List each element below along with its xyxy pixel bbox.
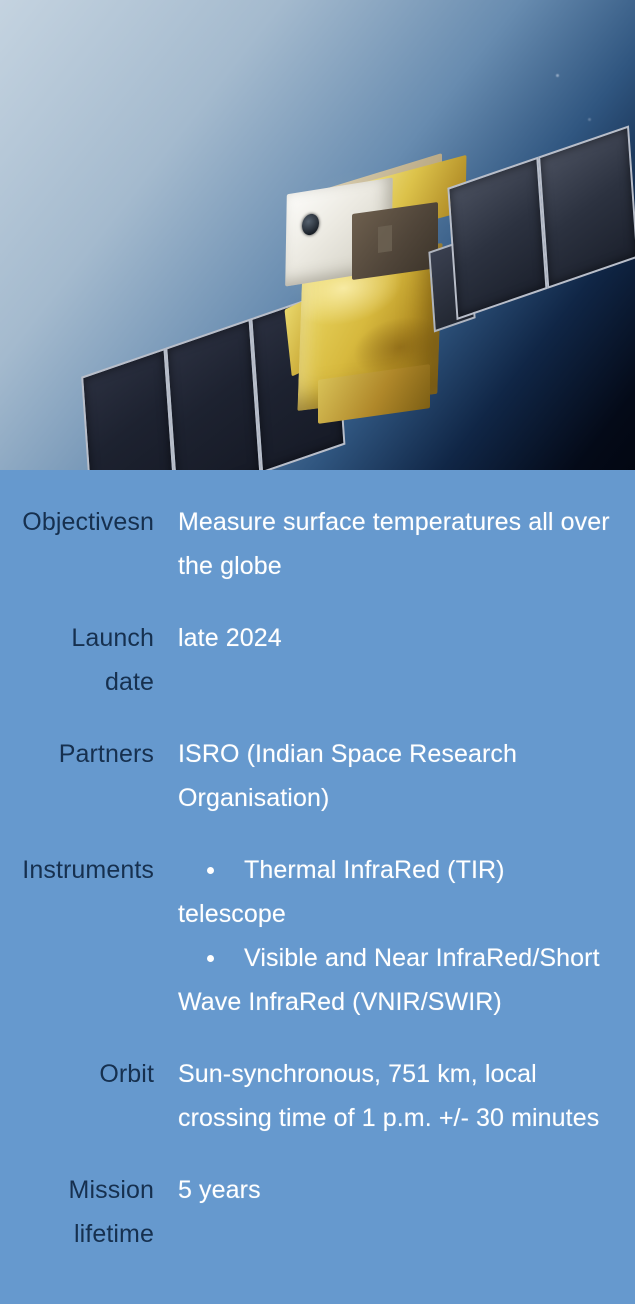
- infobox-value: late 2024: [178, 616, 613, 660]
- instrument-dark-face: [352, 202, 438, 280]
- infobox-label: Mission lifetime: [22, 1168, 178, 1256]
- infobox-value: ISRO (Indian Space Research Organisation…: [178, 732, 613, 820]
- infobox-row-orbit: Orbit Sun-synchronous, 751 km, local cro…: [22, 1052, 613, 1140]
- list-item-label: Visible and Near InfraRed/Short Wave Inf…: [178, 944, 600, 1016]
- instrument-list: Thermal InfraRed (TIR) telescope Visible…: [178, 848, 613, 1024]
- list-item: Thermal InfraRed (TIR) telescope: [178, 848, 613, 936]
- infobox-row-partners: Partners ISRO (Indian Space Research Org…: [22, 732, 613, 820]
- infobox-value-list: Thermal InfraRed (TIR) telescope Visible…: [178, 848, 613, 1024]
- bullet-icon: [207, 867, 214, 874]
- infobox-row-launch-date: Launch date late 2024: [22, 616, 613, 704]
- infobox-label: Instruments: [22, 848, 178, 892]
- infobox-label: Objectivesn: [22, 500, 178, 544]
- infobox-row-mission-lifetime: Mission lifetime 5 years: [22, 1168, 613, 1256]
- satellite-spacecraft: [0, 0, 635, 470]
- mission-infobox: Objectivesn Measure surface temperatures…: [0, 470, 635, 1304]
- solar-panel-segment: [166, 319, 261, 470]
- solar-panel-segment: [81, 348, 176, 470]
- infobox-row-objectives: Objectivesn Measure surface temperatures…: [22, 500, 613, 588]
- infobox-label: Launch date: [22, 616, 178, 704]
- bullet-icon: [207, 955, 214, 962]
- instrument-detail: [378, 225, 392, 253]
- solar-panel-segment: [538, 125, 635, 288]
- infobox-value: Measure surface temperatures all over th…: [178, 500, 613, 588]
- infobox-label: Orbit: [22, 1052, 178, 1096]
- page-root: Objectivesn Measure surface temperatures…: [0, 0, 635, 1304]
- infobox-label: Partners: [22, 732, 178, 776]
- list-item-label: Thermal InfraRed (TIR) telescope: [178, 856, 505, 928]
- infobox-row-instruments: Instruments Thermal InfraRed (TIR) teles…: [22, 848, 613, 1024]
- infobox-value: Sun-synchronous, 751 km, local crossing …: [178, 1052, 613, 1140]
- satellite-hero-image: [0, 0, 635, 470]
- infobox-value: 5 years: [178, 1168, 613, 1212]
- list-item: Visible and Near InfraRed/Short Wave Inf…: [178, 936, 613, 1024]
- solar-array-right: [447, 125, 635, 320]
